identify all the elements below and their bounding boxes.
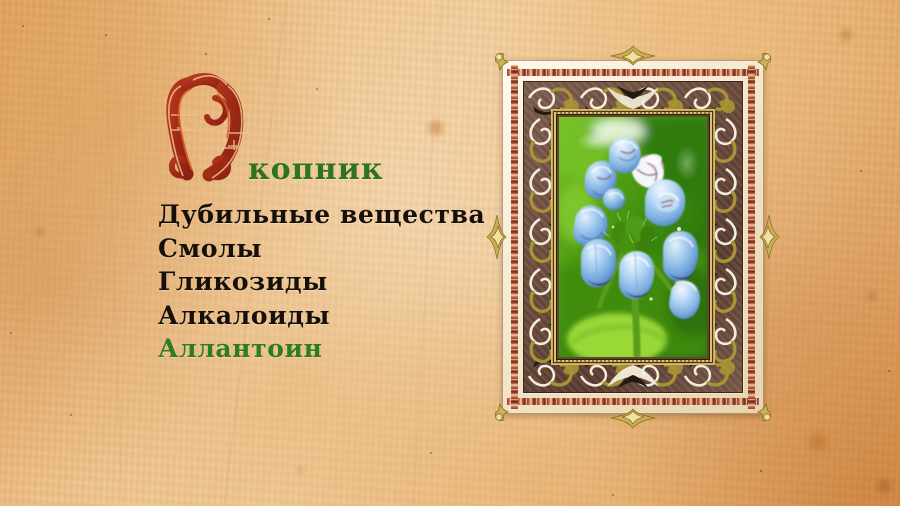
parchment-stain	[865, 289, 879, 303]
slide-canvas: копник Дубильные веществаСмолыГликозидыА…	[0, 0, 900, 506]
braid-top	[507, 69, 759, 76]
plant-info-column: копник Дубильные веществаСмолыГликозидыА…	[0, 0, 480, 506]
parchment-stain	[805, 429, 831, 455]
component-item: Гликозиды	[158, 265, 478, 299]
framed-plant-photo[interactable]	[502, 60, 764, 414]
comfrey-flower-photo	[559, 117, 707, 357]
parchment-stain	[837, 26, 855, 44]
braid-left	[511, 65, 518, 409]
component-item: Смолы	[158, 232, 478, 266]
component-item: Аллантоин	[158, 332, 478, 366]
component-item: Дубильные вещества	[158, 198, 478, 232]
parchment-fleck	[612, 494, 614, 496]
page-title-suffix: копник	[248, 152, 384, 187]
component-item: Алкалоиды	[158, 299, 478, 333]
parchment-fleck	[888, 370, 890, 372]
parchment-fleck	[860, 170, 862, 172]
parchment-fleck	[760, 470, 762, 472]
braid-right	[748, 65, 755, 409]
component-list: Дубильные веществаСмолыГликозидыАлкалоид…	[158, 198, 478, 366]
braid-bottom	[507, 398, 759, 405]
parchment-stain	[874, 476, 894, 496]
